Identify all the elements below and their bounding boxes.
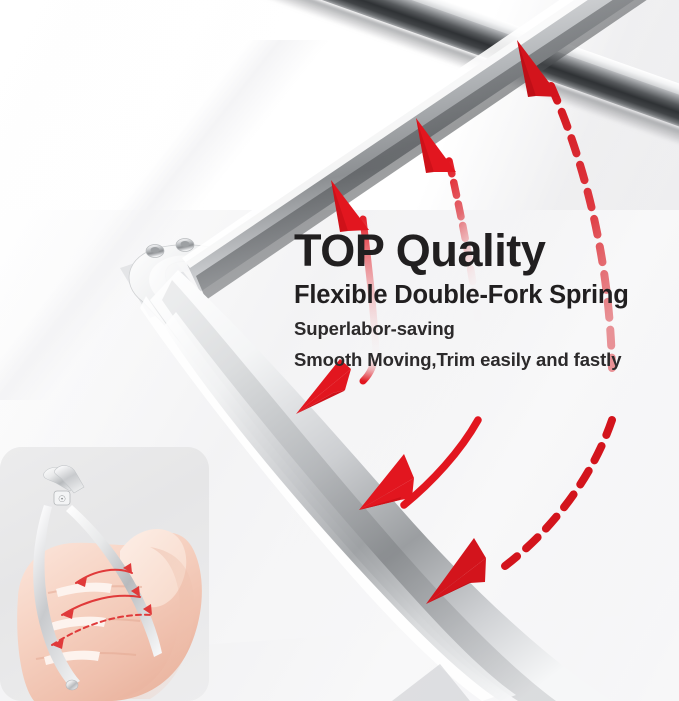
headline: TOP Quality bbox=[294, 226, 666, 276]
inset-illustration: ☉ bbox=[0, 447, 209, 701]
product-feature-poster: TOP Quality Flexible Double-Fork Spring … bbox=[0, 0, 679, 701]
inset-nipper-handle-tip bbox=[66, 680, 78, 690]
benefit-line-1: Superlabor-saving bbox=[294, 316, 666, 341]
inset-nipper-logo-mark: ☉ bbox=[58, 494, 66, 504]
subheadline: Flexible Double-Fork Spring bbox=[294, 280, 666, 310]
copy-block: TOP Quality Flexible Double-Fork Spring … bbox=[294, 226, 666, 372]
benefit-line-2: Smooth Moving,Trim easily and fastly bbox=[294, 347, 666, 372]
inset-demo-card: ☉ bbox=[0, 447, 209, 701]
